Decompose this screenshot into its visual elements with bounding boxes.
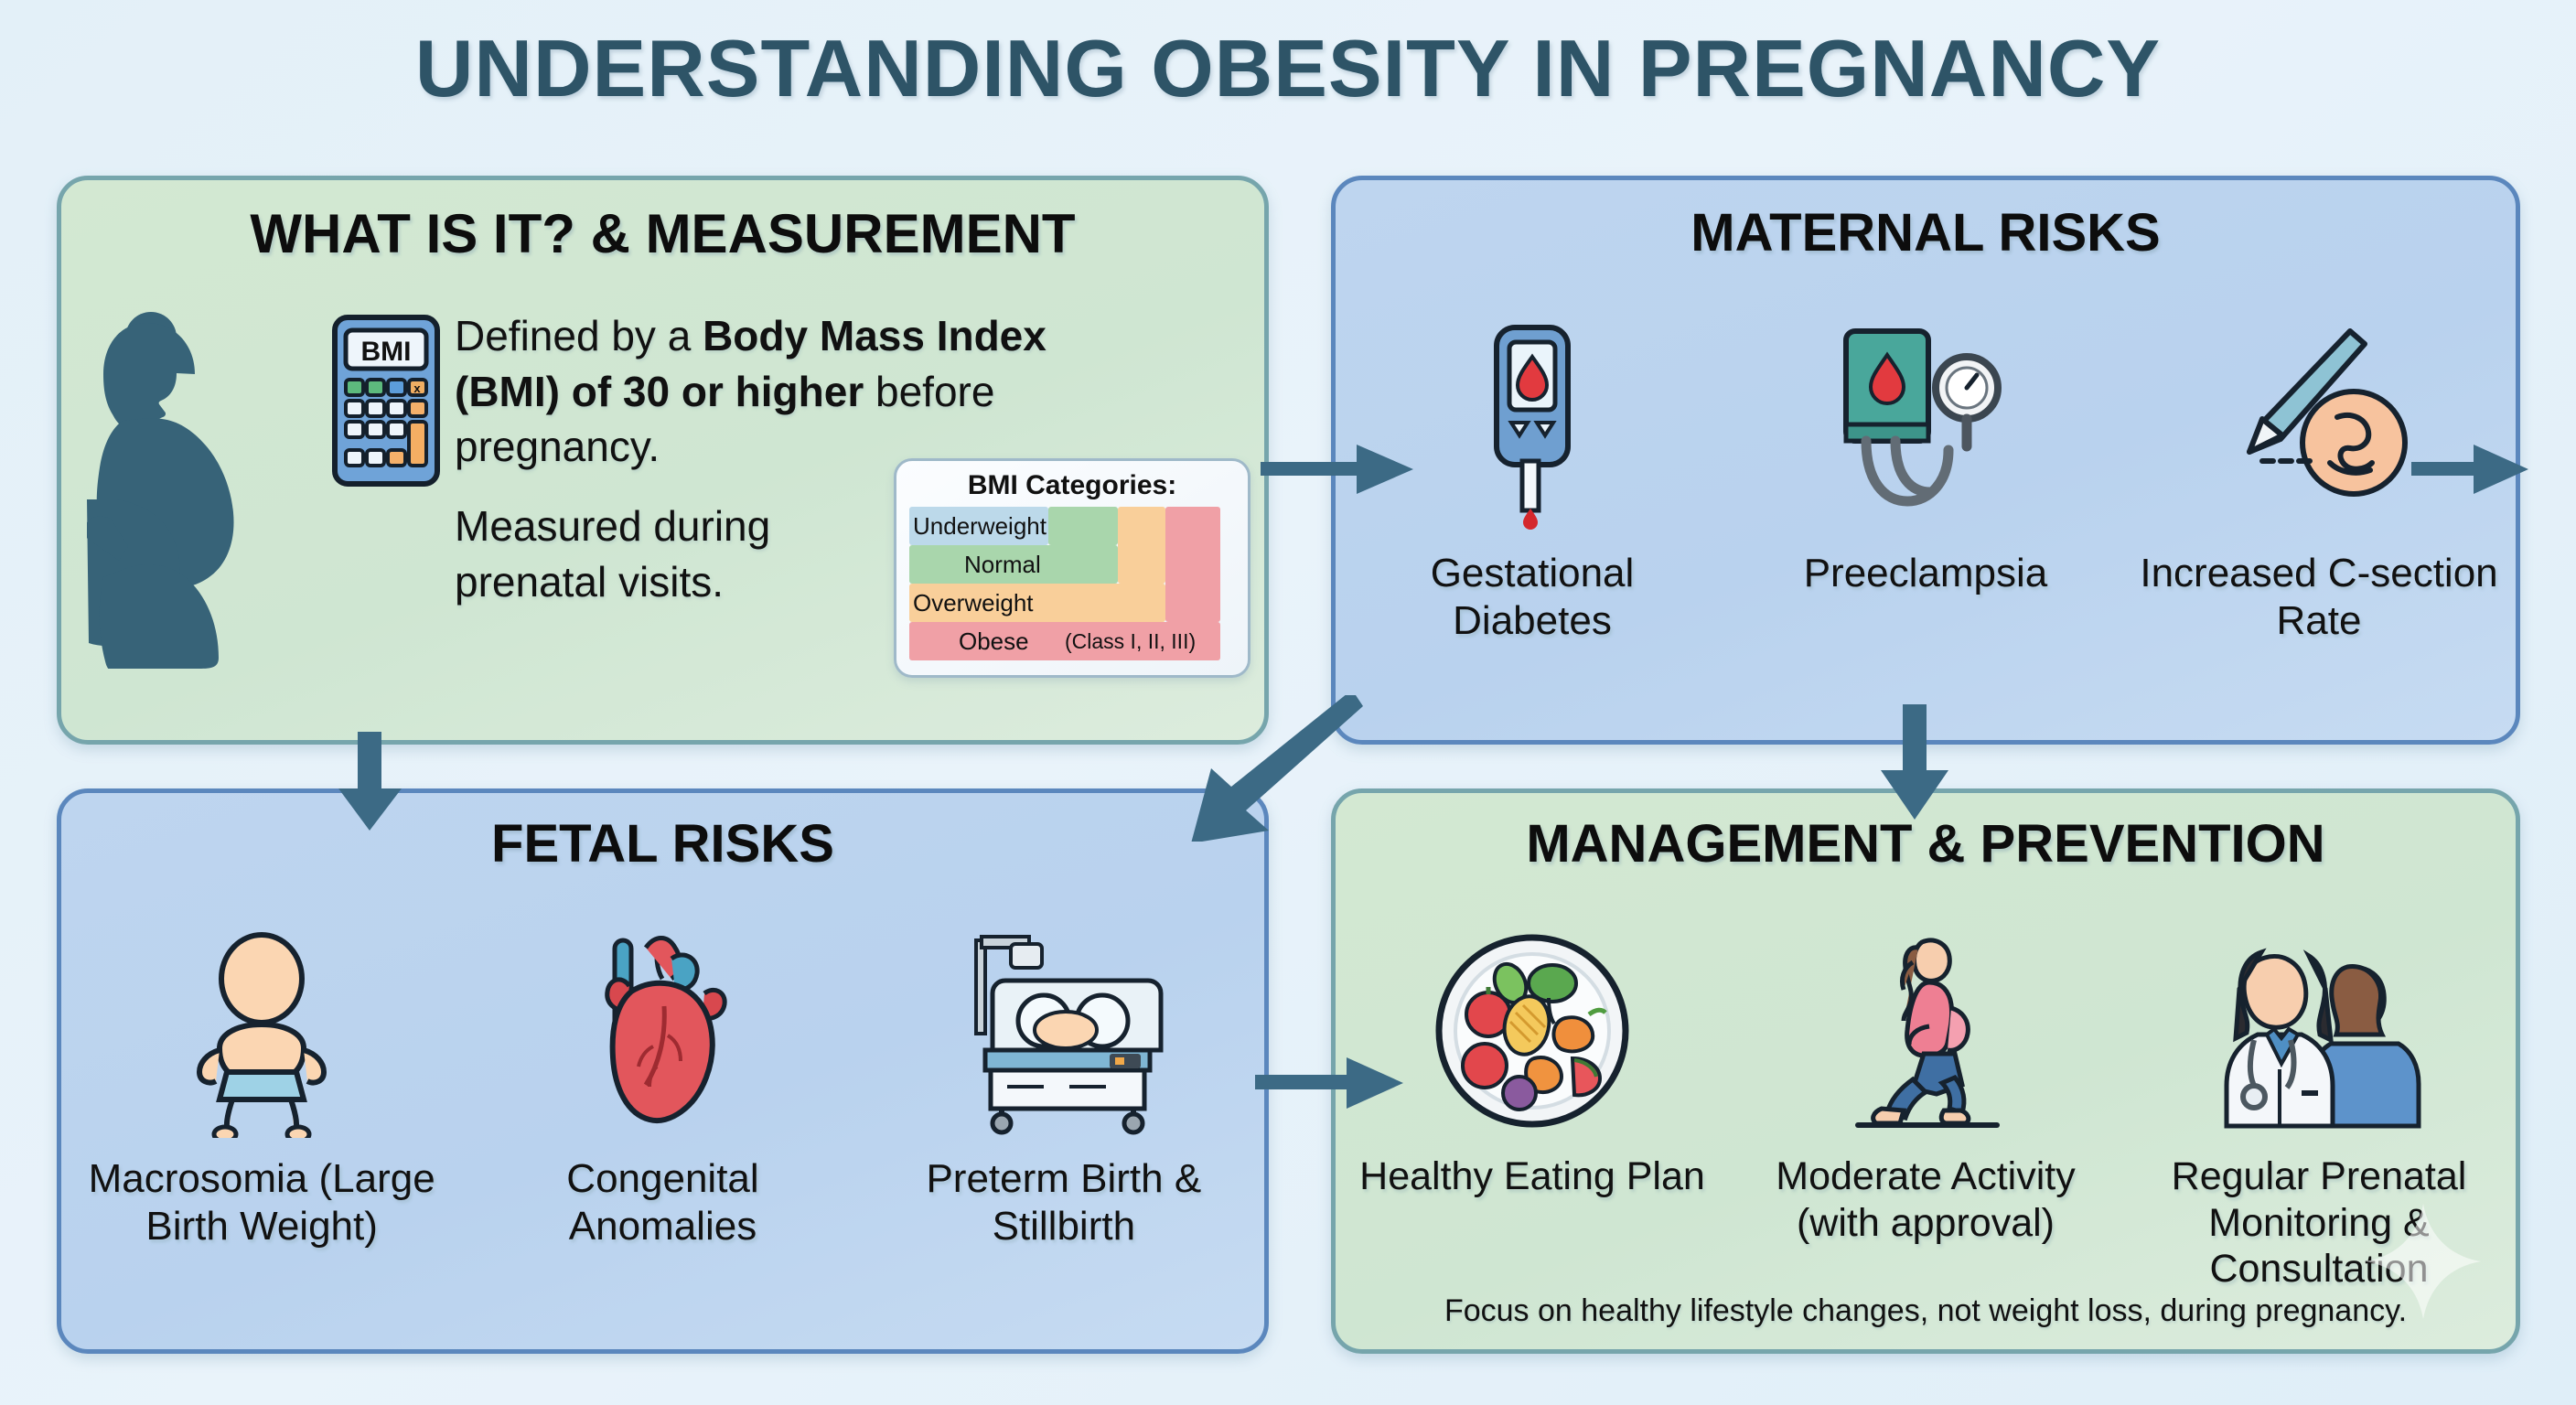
measurement-paragraph: Measured during prenatal visits. — [455, 499, 848, 609]
bmi-label-overweight: Overweight — [913, 589, 1034, 617]
maternal-label-0: Gestational Diabetes — [1349, 550, 1715, 645]
bmi-categories-legend: BMI Categories: Underweight Normal Overw… — [894, 458, 1250, 678]
maternal-label-2: Increased C-section Rate — [2136, 550, 2502, 645]
arrow-fetal-to-management — [1255, 1043, 1420, 1125]
sparkle-watermark-icon — [2364, 1202, 2483, 1325]
management-label-1: Moderate Activity (with approval) — [1743, 1153, 2109, 1246]
fetal-items-row: Macrosomia (Large Birth Weight) — [61, 923, 1264, 1250]
panel-management-prevention: MANAGEMENT & PREVENTION — [1331, 788, 2520, 1354]
arrow-what-to-fetal — [329, 732, 412, 832]
panel-maternal-heading: MATERNAL RISKS — [1336, 202, 2516, 263]
fetal-item-macrosomia: Macrosomia (Large Birth Weight) — [75, 923, 448, 1250]
infographic-canvas: UNDERSTANDING OBESITY IN PREGNANCY WHAT … — [0, 0, 2576, 1405]
bmi-calculator-icon: BMI — [331, 314, 441, 492]
exercising-pregnant-woman-icon — [1834, 921, 2017, 1141]
panel-what-heading: WHAT IS IT? & MEASUREMENT — [61, 202, 1264, 265]
fetal-label-1: Congenital Anomalies — [477, 1155, 850, 1250]
arrow-what-to-maternal — [1261, 428, 1425, 510]
management-footer-note: Focus on healthy lifestyle changes, not … — [1336, 1293, 2516, 1329]
bmi-band-normal-tail — [1048, 507, 1118, 545]
incubator-icon — [954, 923, 1174, 1142]
bmi-legend-bands: Underweight Normal Overweight Obese (Cla… — [909, 507, 1235, 660]
maternal-item-preeclampsia: Preeclampsia — [1743, 317, 2109, 597]
baby-icon — [188, 923, 335, 1142]
maternal-items-row: Gestational Diabetes — [1336, 317, 2516, 645]
panel-fetal-risks: FETAL RISKS — [57, 788, 1269, 1354]
fetal-label-2: Preterm Birth & Stillbirth — [877, 1155, 1250, 1250]
bmi-label-obese: Obese — [959, 627, 1029, 656]
management-items-row: Healthy Eating Plan — [1336, 921, 2516, 1292]
management-label-0: Healthy Eating Plan — [1359, 1153, 1705, 1200]
arrow-maternal-to-fetal — [1189, 695, 1372, 842]
doctor-patient-icon — [2214, 921, 2424, 1141]
scalpel-fetus-icon — [2218, 317, 2420, 537]
panel-maternal-risks: MATERNAL RISKS Gestational Diabetes — [1331, 176, 2520, 745]
bmi-legend-title: BMI Categories: — [909, 470, 1235, 501]
heart-anatomy-icon — [580, 923, 745, 1142]
bmi-band-overweight-tail — [1118, 507, 1165, 584]
fetal-label-0: Macrosomia (Large Birth Weight) — [75, 1155, 448, 1250]
arrow-maternal-to-management — [1866, 704, 1967, 823]
fetal-item-preterm-stillbirth: Preterm Birth & Stillbirth — [877, 923, 1250, 1250]
glucometer-icon — [1464, 317, 1601, 537]
bmi-label-normal: Normal — [964, 551, 1041, 579]
management-item-moderate-activity: Moderate Activity (with approval) — [1743, 921, 2109, 1246]
bmi-label-obese-classes: (Class I, II, III) — [1065, 629, 1196, 654]
definition-pre: Defined by a — [455, 312, 703, 359]
plate-of-food-icon — [1432, 921, 1633, 1141]
maternal-label-1: Preeclampsia — [1804, 550, 2048, 597]
panel-what-is-it: WHAT IS IT? & MEASUREMENT — [57, 176, 1269, 745]
bmi-label-underweight: Underweight — [913, 512, 1046, 541]
panel-fetal-heading: FETAL RISKS — [61, 813, 1264, 874]
page-title: UNDERSTANDING OBESITY IN PREGNANCY — [0, 22, 2576, 115]
bmi-band-obese-tail — [1165, 507, 1220, 622]
blood-pressure-cuff-icon — [1830, 317, 2022, 537]
what-body: BMI — [61, 288, 1264, 745]
calculator-display-text: BMI — [361, 337, 412, 367]
arrow-maternal-out-right — [2411, 428, 2539, 510]
calculator-multiply-key-label: x — [413, 381, 421, 395]
pregnant-woman-silhouette-icon — [87, 303, 297, 673]
fetal-item-congenital-anomalies: Congenital Anomalies — [477, 923, 850, 1250]
definition-paragraph: Defined by a Body Mass Index (BMI) of 30… — [455, 308, 1095, 475]
